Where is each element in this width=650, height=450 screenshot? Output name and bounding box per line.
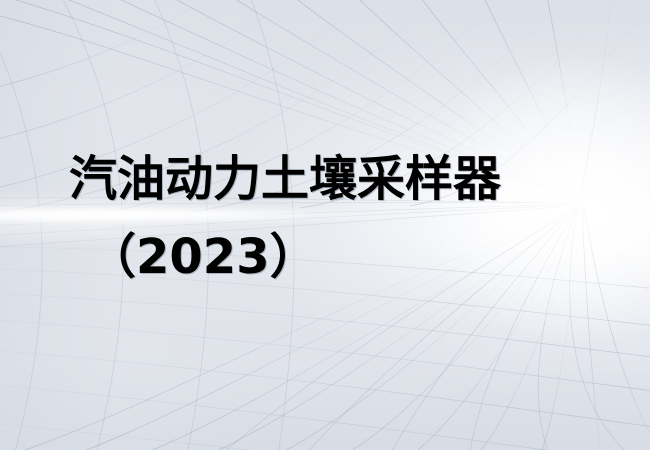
title-slide: 汽油动力土壤采样器 （2023） bbox=[0, 0, 650, 450]
slide-title-primary: 汽油动力土壤采样器 bbox=[69, 150, 501, 208]
title-block: 汽油动力土壤采样器 （2023） bbox=[0, 0, 650, 450]
slide-title-year: （2023） bbox=[88, 228, 318, 286]
